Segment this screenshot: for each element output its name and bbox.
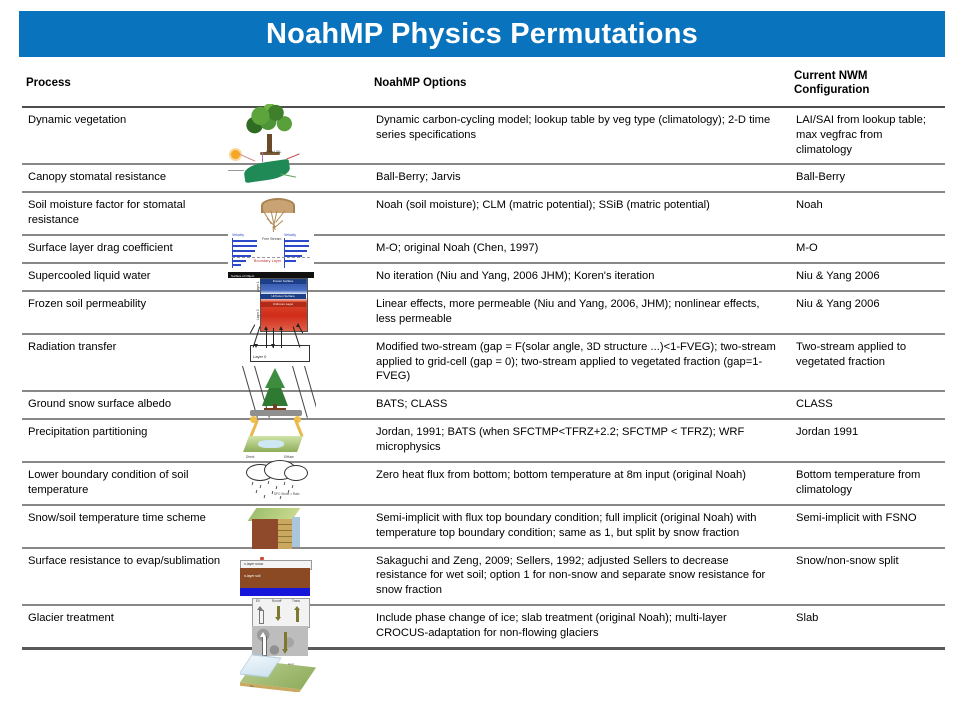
- table-row: Supercooled liquid waterNo iteration (Ni…: [22, 263, 945, 291]
- cell-current-config: Semi-implicit with FSNO: [790, 505, 945, 548]
- cell-illustration: [230, 192, 370, 235]
- cell-options: Zero heat flux from bottom; bottom tempe…: [370, 462, 790, 505]
- column-header-process: Process: [22, 63, 230, 107]
- cell-illustration: [230, 164, 370, 192]
- table-header: Process NoahMP Options Current NWM Confi…: [22, 63, 945, 107]
- column-header-current-line2: Configuration: [794, 84, 869, 96]
- cell-illustration: [230, 605, 370, 648]
- table-row: Ground snow surface albedoBATS; CLASSCLA…: [22, 391, 945, 419]
- cell-options: M-O; original Noah (Chen, 1997): [370, 235, 790, 263]
- table-row: Lower boundary condition of soil tempera…: [22, 462, 945, 505]
- cell-options: No iteration (Niu and Yang, 2006 JHM); K…: [370, 263, 790, 291]
- table-row: Canopy stomatal resistanceBall-Berry; Ja…: [22, 164, 945, 192]
- cell-process: Lower boundary condition of soil tempera…: [22, 462, 230, 505]
- cell-illustration: [230, 505, 370, 548]
- cell-current-config: Niu & Yang 2006: [790, 291, 945, 334]
- cell-current-config: Ball-Berry: [790, 164, 945, 192]
- cell-options: Include phase change of ice; slab treatm…: [370, 605, 790, 648]
- cell-illustration: [230, 391, 370, 419]
- cell-current-config: Noah: [790, 192, 945, 235]
- cell-current-config: Two-stream applied to vegetated fraction: [790, 334, 945, 392]
- page-title: NoahMP Physics Permutations: [266, 20, 698, 49]
- cell-process: Dynamic vegetation: [22, 107, 230, 165]
- slide-canvas: NoahMP Physics Permutations Process Noah…: [0, 0, 960, 720]
- column-header-icon: [230, 63, 370, 107]
- cell-illustration: [230, 334, 370, 392]
- physics-permutations-table: Process NoahMP Options Current NWM Confi…: [22, 63, 945, 650]
- table-row: Surface layer drag coefficientM-O; origi…: [22, 235, 945, 263]
- cell-process: Supercooled liquid water: [22, 263, 230, 291]
- cell-illustration: [230, 235, 370, 263]
- table-row: Precipitation partitioningJordan, 1991; …: [22, 419, 945, 462]
- cell-illustration: [230, 548, 370, 606]
- glacier-block-icon: ice land: [240, 648, 320, 692]
- cell-process: Ground snow surface albedo: [22, 391, 230, 419]
- cell-options: Jordan, 1991; BATS (when SFCTMP<TFRZ+2.2…: [370, 419, 790, 462]
- table-row: Surface resistance to evap/sublimationSa…: [22, 548, 945, 606]
- cell-process: Surface layer drag coefficient: [22, 235, 230, 263]
- slide-title-banner: NoahMP Physics Permutations: [19, 11, 945, 57]
- table-body: Dynamic vegetationDynamic carbon-cycling…: [22, 107, 945, 649]
- cell-options: Semi-implicit with flux top boundary con…: [370, 505, 790, 548]
- cell-illustration: [230, 462, 370, 505]
- cell-illustration: [230, 107, 370, 165]
- table-row: Soil moisture factor for stomatal resist…: [22, 192, 945, 235]
- column-header-current-config: Current NWM Configuration: [790, 63, 945, 107]
- cell-process: Surface resistance to evap/sublimation: [22, 548, 230, 606]
- cell-illustration: [230, 263, 370, 291]
- cell-options: Noah (soil moisture); CLM (matric potent…: [370, 192, 790, 235]
- cell-options: BATS; CLASS: [370, 391, 790, 419]
- table-row: Snow/soil temperature time schemeSemi-im…: [22, 505, 945, 548]
- column-header-current-line1: Current NWM: [794, 70, 867, 82]
- cell-options: Dynamic carbon-cycling model; lookup tab…: [370, 107, 790, 165]
- cell-process: Radiation transfer: [22, 334, 230, 392]
- cell-current-config: LAI/SAI from lookup table; max vegfrac f…: [790, 107, 945, 165]
- cell-illustration: [230, 291, 370, 334]
- cell-current-config: CLASS: [790, 391, 945, 419]
- table-row: Radiation transferModified two-stream (g…: [22, 334, 945, 392]
- cell-current-config: Slab: [790, 605, 945, 648]
- cell-illustration: [230, 419, 370, 462]
- table-row: Glacier treatmentInclude phase change of…: [22, 605, 945, 648]
- cell-process: Soil moisture factor for stomatal resist…: [22, 192, 230, 235]
- cell-process: Glacier treatment: [22, 605, 230, 648]
- cell-current-config: Snow/non-snow split: [790, 548, 945, 606]
- cell-process: Canopy stomatal resistance: [22, 164, 230, 192]
- cell-process: Precipitation partitioning: [22, 419, 230, 462]
- cell-current-config: Niu & Yang 2006: [790, 263, 945, 291]
- table-header-row: Process NoahMP Options Current NWM Confi…: [22, 63, 945, 107]
- cell-current-config: Bottom temperature from climatology: [790, 462, 945, 505]
- table-row: Dynamic vegetationDynamic carbon-cycling…: [22, 107, 945, 165]
- cell-current-config: Jordan 1991: [790, 419, 945, 462]
- cell-options: Modified two-stream (gap = F(solar angle…: [370, 334, 790, 392]
- cell-options: Sakaguchi and Zeng, 2009; Sellers, 1992;…: [370, 548, 790, 606]
- cell-options: Ball-Berry; Jarvis: [370, 164, 790, 192]
- cell-process: Frozen soil permeability: [22, 291, 230, 334]
- cell-options: Linear effects, more permeable (Niu and …: [370, 291, 790, 334]
- cell-process: Snow/soil temperature time scheme: [22, 505, 230, 548]
- table-row: Frozen soil permeabilityLinear effects, …: [22, 291, 945, 334]
- column-header-options: NoahMP Options: [370, 63, 790, 107]
- cell-current-config: M-O: [790, 235, 945, 263]
